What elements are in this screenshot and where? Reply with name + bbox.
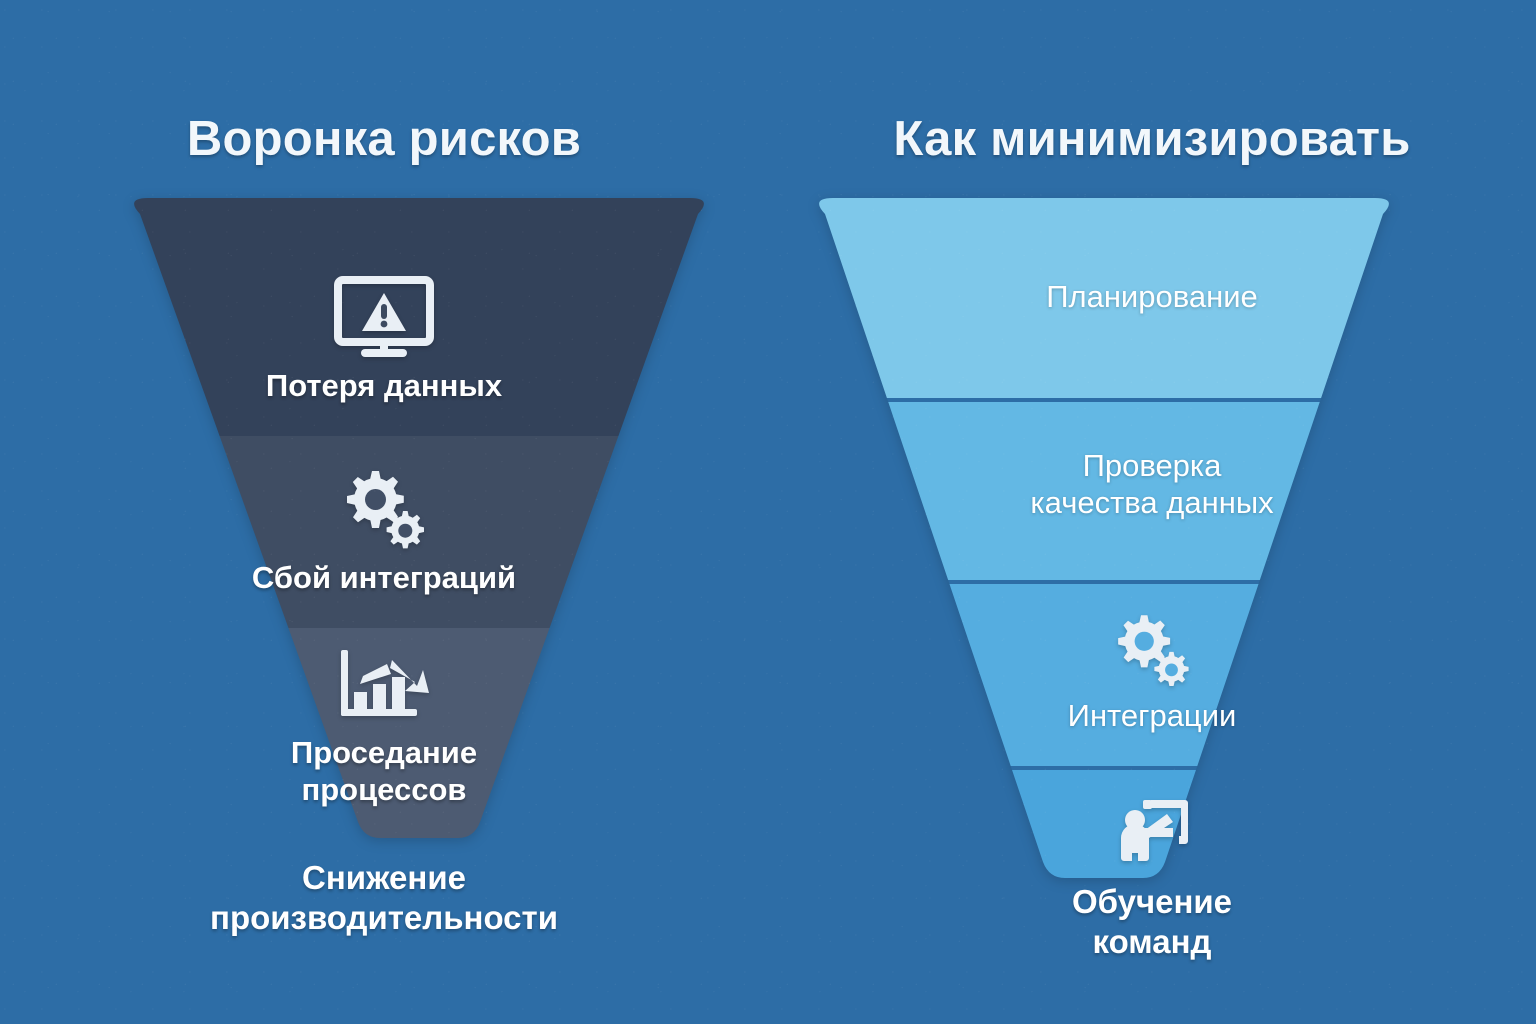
mitigation-segment-4[interactable] — [768, 790, 1536, 878]
risk-funnel-labels: Потеря данных Сбой интегр — [0, 190, 768, 890]
monitor-warning-icon — [333, 275, 435, 359]
mitigation-segment-1-label: Планирование — [1046, 279, 1258, 316]
gears-icon — [337, 467, 431, 551]
mitigation-funnel-panel: Как минимизировать — [768, 0, 1536, 1024]
mitigation-segment-1[interactable]: Планирование — [768, 252, 1536, 342]
mitigation-segment-2-label: Проверка качества данных — [1030, 448, 1273, 521]
risk-funnel: Потеря данных Сбой интегр — [0, 190, 768, 890]
training-presenter-icon — [1115, 794, 1189, 866]
risk-funnel-caption: Снижение производительности — [0, 858, 768, 937]
risk-segment-3[interactable]: Проседание процессов — [0, 626, 768, 826]
risk-segment-3-label: Проседание процессов — [291, 735, 477, 808]
risk-segment-1-label: Потеря данных — [266, 368, 502, 405]
infographic-stage: Воронка рисков — [0, 0, 1536, 1024]
risk-funnel-panel: Воронка рисков — [0, 0, 768, 1024]
mitigation-funnel-caption: Обучение команд — [768, 882, 1536, 961]
mitigation-funnel: Планирование Проверка качества данных — [768, 190, 1536, 890]
page-title-right: Как минимизировать — [768, 111, 1536, 167]
risk-segment-1[interactable]: Потеря данных — [0, 250, 768, 430]
gears-icon — [1109, 611, 1195, 689]
page-title-left: Воронка рисков — [0, 111, 768, 167]
mitigation-segment-2[interactable]: Проверка качества данных — [768, 430, 1536, 540]
mitigation-funnel-labels: Планирование Проверка качества данных — [768, 190, 1536, 890]
risk-segment-2[interactable]: Сбой интеграций — [0, 442, 768, 622]
risk-segment-2-label: Сбой интеграций — [252, 560, 516, 597]
mitigation-segment-3[interactable]: Интеграции — [768, 598, 1536, 748]
mitigation-segment-3-label: Интеграции — [1068, 698, 1237, 735]
declining-bar-chart-icon — [335, 644, 433, 726]
